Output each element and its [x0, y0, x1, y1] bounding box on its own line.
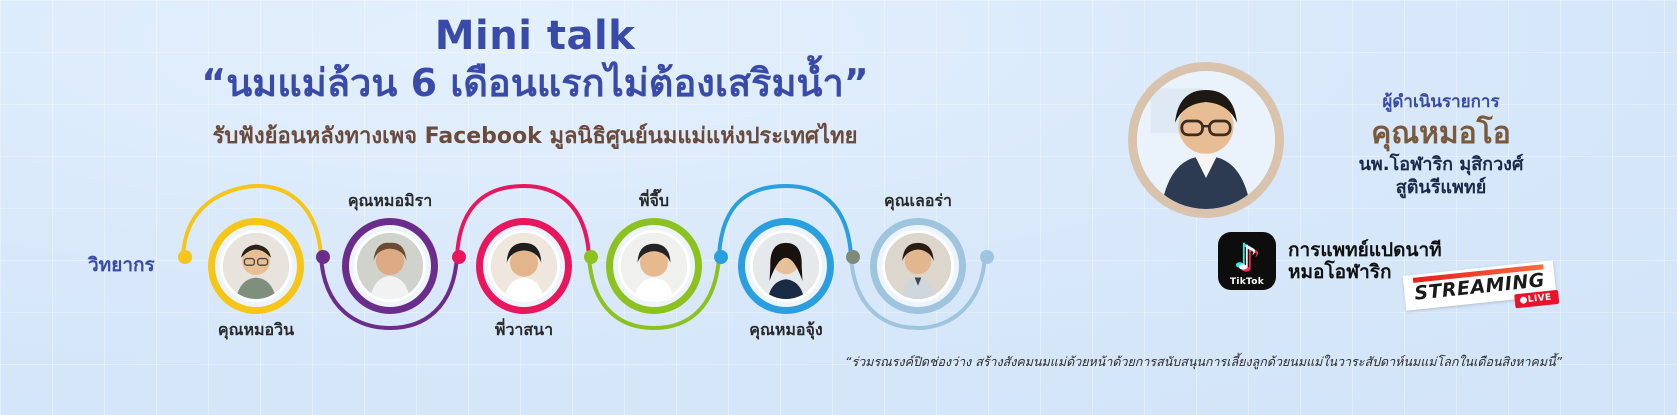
avatar — [220, 230, 292, 302]
timeline-dot — [316, 250, 330, 264]
speaker-name: พี่วาสนา — [495, 318, 553, 343]
avatar — [618, 230, 690, 302]
avatar-photo — [753, 233, 819, 299]
timeline-dot — [714, 250, 728, 264]
headline-block: Mini talk “นมแม่ล้วน 6 เดือนแรกไม่ต้องเส… — [0, 14, 1070, 153]
speaker-node[interactable]: พี่จี๊บ — [606, 218, 702, 314]
speaker-node[interactable]: คุณเลอร่า — [870, 218, 966, 314]
avatar-photo — [223, 233, 289, 299]
event-banner: Mini talk “นมแม่ล้วน 6 เดือนแรกไม่ต้องเส… — [0, 0, 1677, 415]
speaker-name: คุณเลอร่า — [884, 189, 952, 214]
channel-name-line1: การแพทย์แปดนาที — [1288, 239, 1442, 261]
speaker-node[interactable]: คุณหมอจุ้ง — [738, 218, 834, 314]
avatar-photo — [885, 233, 951, 299]
timeline-dot — [178, 250, 192, 264]
host-role: ผู้ดำเนินรายการ — [1286, 88, 1596, 115]
avatar — [354, 230, 426, 302]
host-nickname: คุณหมอโอ — [1286, 117, 1596, 150]
speaker-avatar-ring — [606, 218, 702, 314]
headline-quote: “นมแม่ล้วน 6 เดือนแรกไม่ต้องเสริมน้ำ” — [0, 61, 1070, 107]
speaker-node[interactable]: คุณหมอวิน — [208, 218, 304, 314]
speaker-node[interactable]: พี่วาสนา — [476, 218, 572, 314]
speaker-avatar-ring — [342, 218, 438, 314]
headline-subtitle: รับฟังย้อนหลังทางเพจ Facebook มูลนิธิศูน… — [0, 118, 1070, 153]
speaker-name: พี่จี๊บ — [639, 189, 669, 214]
avatar-photo — [357, 233, 423, 299]
host-avatar-block — [1128, 62, 1284, 218]
timeline-dot — [846, 250, 860, 264]
avatar-photo — [491, 233, 557, 299]
timeline-dot — [452, 250, 466, 264]
speakers-section: วิทยากร — [0, 178, 1050, 343]
host-specialty: สูตินรีแพทย์ — [1286, 177, 1596, 200]
speaker-name: คุณหมอมิรา — [348, 189, 432, 214]
host-info: ผู้ดำเนินรายการ คุณหมอโอ นพ.โอฬาริก มุสิ… — [1286, 88, 1596, 199]
host-photo — [1137, 71, 1275, 209]
tiktok-note-glyph: ♪♪♪ — [1236, 241, 1258, 275]
speaker-avatar-ring — [476, 218, 572, 314]
speaker-avatar-ring — [870, 218, 966, 314]
speaker-node[interactable]: คุณหมอมิรา — [342, 218, 438, 314]
avatar-photo — [621, 233, 687, 299]
tiktok-icon[interactable]: ♪♪♪ TikTok — [1218, 232, 1276, 290]
avatar — [882, 230, 954, 302]
timeline-dot — [584, 250, 598, 264]
speaker-avatar-ring — [738, 218, 834, 314]
avatar — [750, 230, 822, 302]
avatar — [488, 230, 560, 302]
tiktok-wordmark: TikTok — [1230, 277, 1264, 287]
timeline-dot — [980, 250, 994, 264]
speaker-avatar-ring — [208, 218, 304, 314]
footer-quote: “ร่วมรณรงค์ปิดช่องว่าง สร้างสังคมนมแม่ด้… — [845, 352, 1665, 372]
speaker-name: คุณหมอวิน — [218, 318, 294, 343]
speaker-name: คุณหมอจุ้ง — [749, 318, 822, 343]
host-full-name: นพ.โอฬาริก มุสิกวงศ์ — [1286, 154, 1596, 177]
host-avatar-ring — [1128, 62, 1284, 218]
page-title: Mini talk — [0, 14, 1070, 59]
